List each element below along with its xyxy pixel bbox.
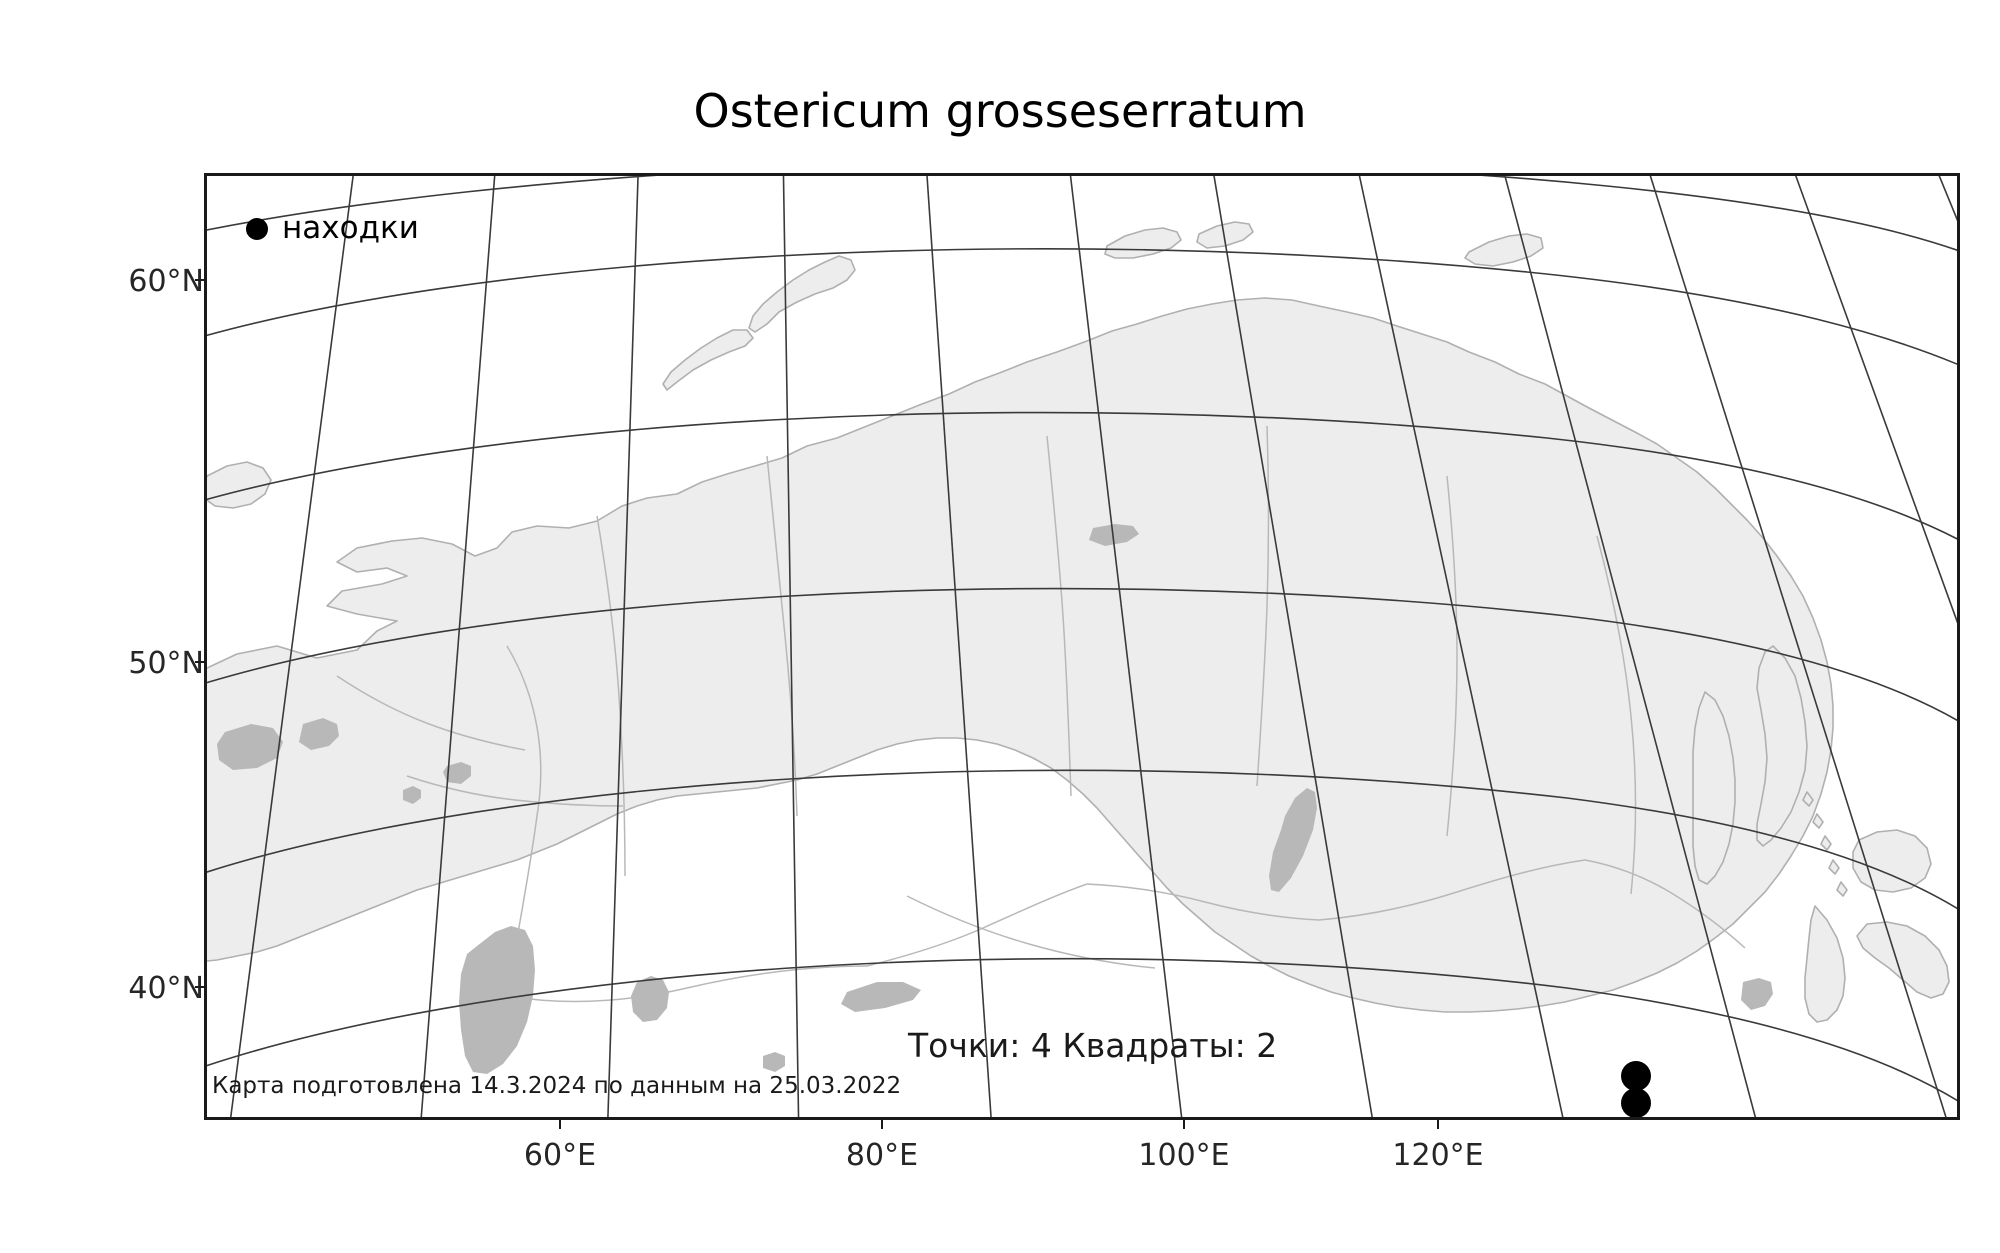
eurasia-landmass — [207, 298, 1833, 1012]
x-tick-mark-120e — [1437, 1120, 1439, 1129]
lake-khanka — [1741, 978, 1773, 1010]
landmass-group — [207, 222, 1949, 1022]
kuril-islands-2 — [1813, 814, 1823, 828]
map-page: Ostericum grosseserratum 60°N 50°N 40°N … — [0, 0, 2000, 1253]
occurrence-points-group[interactable] — [1621, 1061, 1651, 1117]
novaya-zemlya-south-island — [663, 330, 753, 390]
aral-sea — [631, 976, 669, 1022]
kuril-islands-5 — [1837, 882, 1847, 896]
x-tick-label-120e: 120°E — [1358, 1138, 1518, 1173]
occurrence-point[interactable] — [1621, 1088, 1651, 1117]
honshu-island — [1857, 922, 1949, 998]
kuril-islands-4 — [1829, 860, 1839, 874]
lake-balkhash — [841, 982, 921, 1012]
legend-label: находки — [282, 213, 419, 244]
x-tick-label-60e: 60°E — [480, 1138, 640, 1173]
filled-circle-marker-icon — [246, 218, 268, 240]
severnaya-zemlya-island — [1105, 228, 1181, 258]
x-tick-mark-100e — [1183, 1120, 1185, 1129]
y-tick-mark-50n — [195, 661, 204, 663]
map-legend: находки — [246, 213, 419, 244]
y-tick-mark-40n — [195, 986, 204, 988]
x-tick-label-80e: 80°E — [802, 1138, 962, 1173]
x-tick-mark-60e — [559, 1120, 561, 1129]
border-line-3 — [867, 884, 1087, 966]
footer-annotation: Карта подготовлена 14.3.2024 по данным н… — [212, 1073, 901, 1099]
x-tick-label-100e: 100°E — [1104, 1138, 1264, 1173]
novaya-zemlya-island — [749, 256, 855, 332]
y-tick-label-50n: 50°N — [64, 646, 204, 681]
occurrence-point[interactable] — [1621, 1061, 1651, 1091]
small-lake-1 — [763, 1052, 785, 1072]
map-canvas[interactable] — [204, 173, 1960, 1120]
kuril-islands-3 — [1821, 836, 1831, 850]
counts-annotation: Точки: 4 Квадраты: 2 — [908, 1026, 1277, 1065]
border-line-2 — [507, 966, 867, 1002]
new-siberian-islands — [1465, 234, 1543, 266]
y-tick-label-60n: 60°N — [64, 264, 204, 299]
y-tick-mark-60n — [195, 279, 204, 281]
page-title: Ostericum grosseserratum — [0, 84, 2000, 138]
graticule-meridian-40e — [227, 176, 357, 1117]
korean-peninsula — [1805, 906, 1845, 1022]
graticule-parallel-65n — [207, 176, 1957, 266]
x-tick-mark-80e — [881, 1120, 883, 1129]
map-graphic — [207, 176, 1957, 1117]
y-tick-label-40n: 40°N — [64, 971, 204, 1006]
